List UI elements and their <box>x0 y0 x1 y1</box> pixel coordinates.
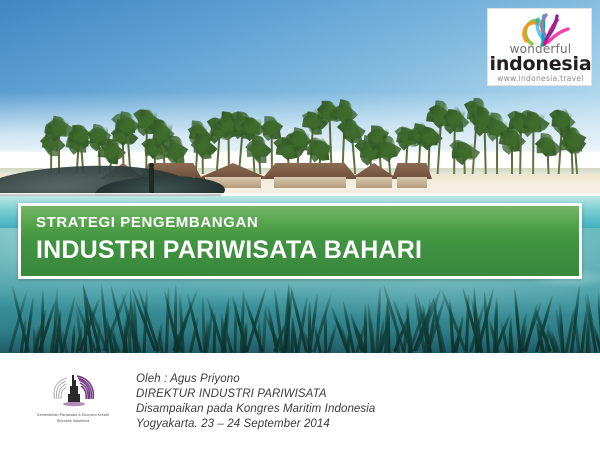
ministry-seal-icon <box>47 372 101 412</box>
seagrass-clump <box>583 283 600 353</box>
slide-headline: INDUSTRI PARIWISATA BAHARI <box>36 234 569 266</box>
presenter-details: Oleh : Agus Priyono DIREKTUR INDUSTRI PA… <box>136 372 556 432</box>
traditional-house <box>262 154 358 188</box>
wonderful-indonesia-logo: wonderful indonesia www.indonesia.travel <box>487 8 592 86</box>
logo-word-indonesia: indonesia <box>488 53 592 75</box>
title-banner-text: STRATEGI PENGEMBANGAN INDUSTRI PARIWISAT… <box>36 214 569 266</box>
seagrass-clump <box>122 283 152 353</box>
seagrass-clump <box>53 283 83 353</box>
traditional-house <box>350 162 398 188</box>
slide-kicker: STRATEGI PENGEMBANGAN <box>36 214 569 232</box>
presenter-event: Disampaikan pada Kongres Maritim Indones… <box>136 402 556 417</box>
title-banner: STRATEGI PENGEMBANGAN INDUSTRI PARIWISAT… <box>18 203 582 279</box>
seal-caption-line1: Kementerian Pariwisata & Ekonomi Kreatif <box>33 413 113 418</box>
logo-url: www.indonesia.travel <box>488 74 592 83</box>
slide-footer: Kementerian Pariwisata & Ekonomi Kreatif… <box>0 353 600 450</box>
presenter-name: Oleh : Agus Priyono <box>136 372 556 387</box>
seagrass-clump <box>536 283 566 353</box>
presenter-place-date: Yogyakarta. 23 – 24 September 2014 <box>136 417 556 432</box>
presenter-role: DIREKTUR INDUSTRI PARIWISATA <box>136 387 556 402</box>
seagrass-clump <box>353 283 383 353</box>
person-on-beach <box>149 167 154 193</box>
presentation-slide: STRATEGI PENGEMBANGAN INDUSTRI PARIWISAT… <box>0 0 600 450</box>
seal-caption-line2: Republik Indonesia <box>33 419 113 424</box>
traditional-house <box>392 166 432 188</box>
ministry-seal: Kementerian Pariwisata & Ekonomi Kreatif… <box>33 372 113 434</box>
